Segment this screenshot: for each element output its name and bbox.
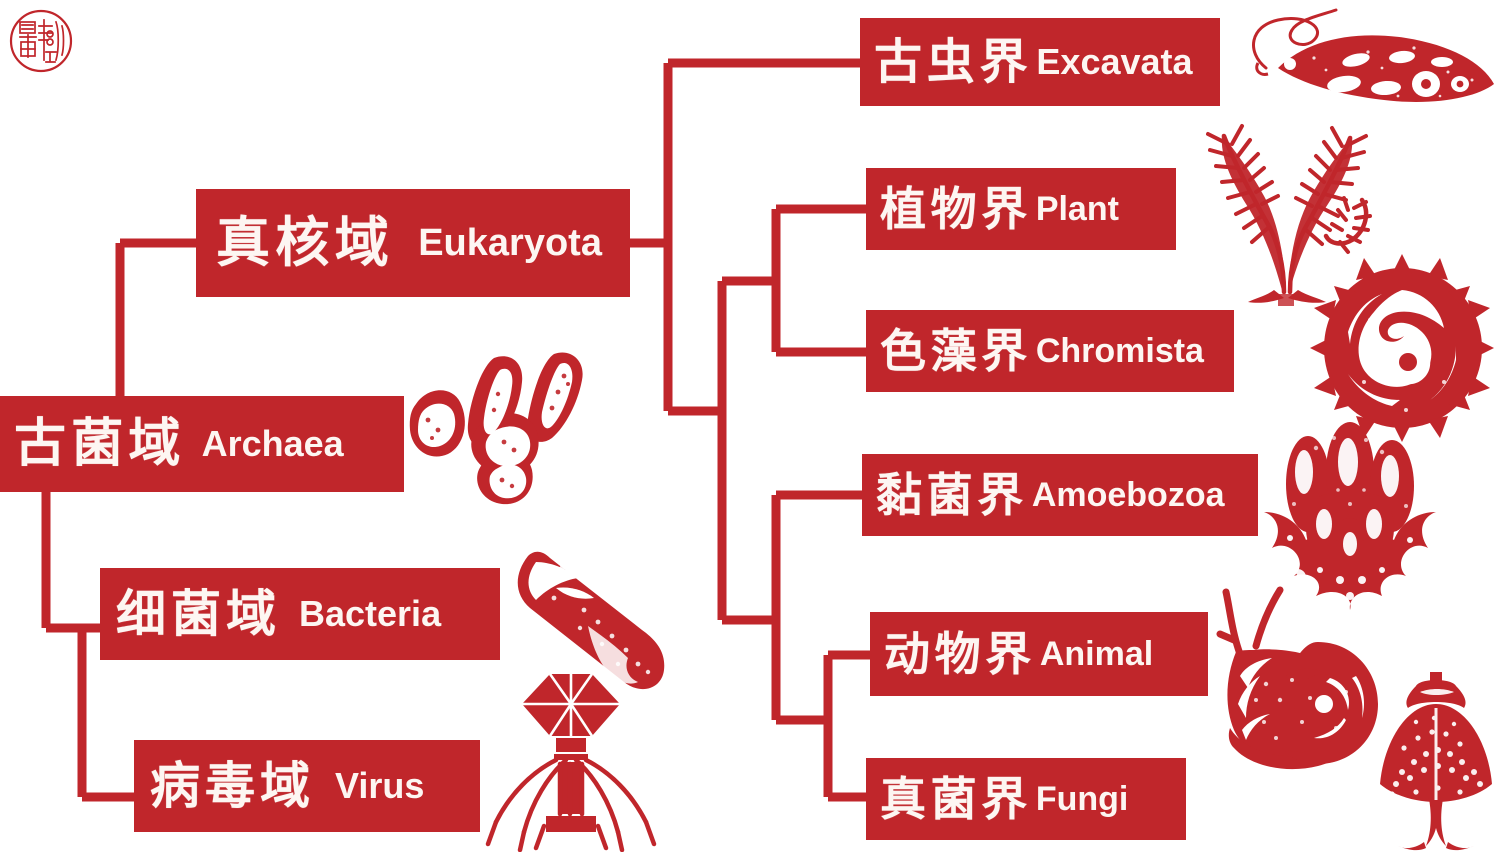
tree-of-life-diagram: 真核域 Eukaryota 古菌域 Archaea 细菌域 Bacteria 病… (0, 0, 1504, 852)
node-chromista[interactable]: 色藻界 Chromista (866, 310, 1234, 392)
node-archaea-en: Archaea (202, 426, 344, 462)
node-eukaryota-cn: 真核域 (216, 216, 394, 270)
node-bacteria-en: Bacteria (299, 596, 441, 632)
node-chromista-en: Chromista (1036, 334, 1204, 368)
artist-seal-icon (8, 8, 74, 74)
archaea-cells-illustration (398, 348, 674, 514)
node-excavata-en: Excavata (1036, 44, 1192, 80)
node-amoebozoa[interactable]: 黏菌界 Amoebozoa (862, 454, 1258, 536)
node-excavata-cn: 古虫界 (874, 38, 1032, 86)
node-bacteria-cn: 细菌域 (116, 589, 281, 639)
node-plant-en: Plant (1036, 192, 1119, 226)
bacteriophage-virus-illustration (474, 668, 664, 852)
node-fungi-en: Fungi (1036, 782, 1129, 816)
node-plant-cn: 植物界 (880, 186, 1032, 232)
node-bacteria[interactable]: 细菌域 Bacteria (100, 568, 500, 660)
mushroom-fungi-illustration (1368, 664, 1504, 852)
node-amoebozoa-cn: 黏菌界 (876, 472, 1028, 518)
node-animal[interactable]: 动物界 Animal (870, 612, 1208, 696)
node-archaea[interactable]: 古菌域 Archaea (0, 396, 404, 492)
node-chromista-cn: 色藻界 (880, 328, 1032, 374)
node-fungi[interactable]: 真菌界 Fungi (866, 758, 1186, 840)
node-virus[interactable]: 病毒域 Virus (134, 740, 480, 832)
node-eukaryota[interactable]: 真核域 Eukaryota (196, 189, 630, 297)
node-plant[interactable]: 植物界 Plant (866, 168, 1176, 250)
node-excavata[interactable]: 古虫界 Excavata (860, 18, 1220, 106)
node-eukaryota-en: Eukaryota (418, 224, 602, 262)
node-archaea-cn: 古菌域 (14, 418, 186, 470)
node-virus-cn: 病毒域 (150, 761, 315, 811)
node-fungi-cn: 真菌界 (880, 776, 1032, 822)
node-amoebozoa-en: Amoebozoa (1032, 478, 1225, 512)
node-virus-en: Virus (335, 768, 424, 804)
node-animal-en: Animal (1040, 637, 1153, 671)
node-animal-cn: 动物界 (884, 631, 1036, 677)
